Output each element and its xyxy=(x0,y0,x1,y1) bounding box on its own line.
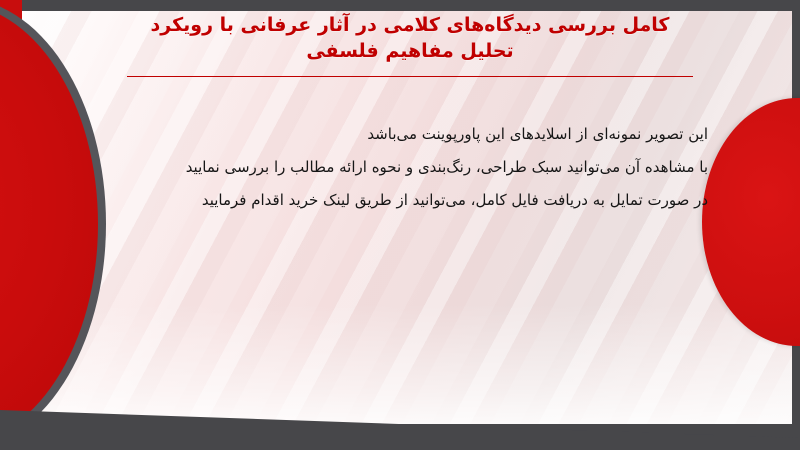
body-line-1: این تصویر نمونه‌ای از اسلایدهای این پاور… xyxy=(88,118,708,151)
slide-title: کامل بررسی دیدگاه‌های کلامی در آثار عرفا… xyxy=(110,12,710,64)
title-line-1: کامل بررسی دیدگاه‌های کلامی در آثار عرفا… xyxy=(110,12,710,38)
title-rule-wrap xyxy=(110,70,710,77)
presentation-slide: کامل بررسی دیدگاه‌های کلامی در آثار عرفا… xyxy=(0,0,800,450)
body-line-2: با مشاهده آن می‌توانید سبک طراحی، رنگ‌بن… xyxy=(88,151,708,184)
title-line-2: تحلیل مفاهیم فلسفی xyxy=(110,38,710,64)
title-underline-rule xyxy=(127,76,693,77)
slide-body-text: این تصویر نمونه‌ای از اسلایدهای این پاور… xyxy=(88,118,708,217)
body-line-3: در صورت تمایل به دریافت فایل کامل، می‌تو… xyxy=(88,184,708,217)
frame-top-border xyxy=(0,0,800,11)
